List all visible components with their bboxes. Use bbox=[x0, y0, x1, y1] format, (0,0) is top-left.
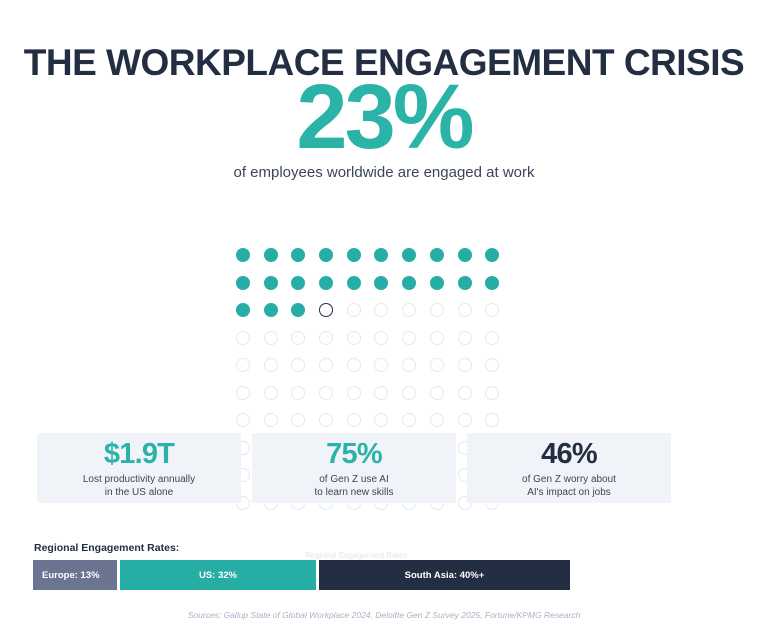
dot-empty bbox=[402, 331, 416, 345]
dot-empty bbox=[485, 331, 499, 345]
dot-highlighted bbox=[319, 303, 333, 317]
stat-label: of Gen Z worry about AI's impact on jobs bbox=[522, 473, 616, 499]
dot-empty bbox=[319, 413, 333, 427]
dot-empty bbox=[430, 386, 444, 400]
dot-empty bbox=[291, 358, 305, 372]
stat-card-genz-ai-use: 75% of Gen Z use AI to learn new skills bbox=[252, 433, 456, 503]
dot-empty bbox=[347, 303, 361, 317]
dot-empty bbox=[430, 303, 444, 317]
dot-empty bbox=[402, 358, 416, 372]
dot-empty bbox=[430, 331, 444, 345]
dot-filled bbox=[291, 303, 305, 317]
dot-empty bbox=[458, 413, 472, 427]
dot-filled bbox=[347, 276, 361, 290]
dot-filled bbox=[374, 248, 388, 262]
stat-value: 75% bbox=[326, 438, 382, 470]
dot-filled bbox=[458, 248, 472, 262]
dot-empty bbox=[291, 386, 305, 400]
dot-empty bbox=[374, 331, 388, 345]
sources-footnote: Sources: Gallup State of Global Workplac… bbox=[0, 609, 768, 621]
dot-filled bbox=[291, 248, 305, 262]
dot-filled bbox=[430, 248, 444, 262]
dot-empty bbox=[264, 386, 278, 400]
dot-filled bbox=[458, 276, 472, 290]
dot-filled bbox=[402, 276, 416, 290]
regional-segment-label: South Asia: 40%+ bbox=[405, 570, 485, 581]
dot-filled bbox=[319, 248, 333, 262]
dot-filled bbox=[236, 276, 250, 290]
dot-empty bbox=[319, 331, 333, 345]
regional-segment: South Asia: 40%+ bbox=[319, 560, 570, 590]
dot-empty bbox=[485, 413, 499, 427]
dot-empty bbox=[236, 386, 250, 400]
dot-empty bbox=[374, 358, 388, 372]
dot-filled bbox=[236, 303, 250, 317]
dot-filled bbox=[485, 276, 499, 290]
dot-empty bbox=[319, 358, 333, 372]
dot-empty bbox=[458, 331, 472, 345]
dot-empty bbox=[374, 303, 388, 317]
stat-value: 46% bbox=[541, 438, 597, 470]
dot-filled bbox=[485, 248, 499, 262]
hero-statistic-value: 23% bbox=[0, 68, 768, 166]
dot-empty bbox=[374, 386, 388, 400]
regional-segment-label: US: 32% bbox=[199, 570, 237, 581]
dot-empty bbox=[485, 386, 499, 400]
stat-card-lost-productivity: $1.9T Lost productivity annually in the … bbox=[37, 433, 241, 503]
regional-engagement-bar: Europe: 13%US: 32%South Asia: 40%+ bbox=[33, 560, 573, 590]
regional-engagement-heading: Regional Engagement Rates: bbox=[34, 541, 179, 555]
dot-empty bbox=[291, 413, 305, 427]
dot-empty bbox=[236, 358, 250, 372]
dot-filled bbox=[402, 248, 416, 262]
dot-empty bbox=[319, 386, 333, 400]
stat-value: $1.9T bbox=[104, 438, 174, 470]
dot-filled bbox=[236, 248, 250, 262]
infographic-canvas: THE WORKPLACE ENGAGEMENT CRISIS 23% of e… bbox=[0, 0, 768, 641]
dot-empty bbox=[264, 331, 278, 345]
dot-filled bbox=[264, 276, 278, 290]
stat-label: of Gen Z use AI to learn new skills bbox=[315, 473, 394, 499]
dot-empty bbox=[264, 358, 278, 372]
dot-empty bbox=[458, 303, 472, 317]
dot-filled bbox=[430, 276, 444, 290]
dot-filled bbox=[347, 248, 361, 262]
dot-filled bbox=[264, 248, 278, 262]
dot-empty bbox=[236, 331, 250, 345]
dot-empty bbox=[458, 386, 472, 400]
regional-segment-label: Europe: 13% bbox=[42, 570, 100, 581]
dot-empty bbox=[291, 331, 305, 345]
stat-card-genz-ai-worry: 46% of Gen Z worry about AI's impact on … bbox=[467, 433, 671, 503]
dot-empty bbox=[458, 358, 472, 372]
dot-empty bbox=[430, 413, 444, 427]
regional-segment: Europe: 13% bbox=[33, 560, 117, 590]
dot-filled bbox=[264, 303, 278, 317]
dot-filled bbox=[374, 276, 388, 290]
dot-empty bbox=[485, 358, 499, 372]
dot-empty bbox=[264, 413, 278, 427]
dot-empty bbox=[347, 358, 361, 372]
dot-empty bbox=[347, 413, 361, 427]
dot-empty bbox=[485, 303, 499, 317]
stat-label: Lost productivity annually in the US alo… bbox=[83, 473, 195, 499]
dot-empty bbox=[402, 413, 416, 427]
dot-empty bbox=[347, 331, 361, 345]
dot-empty bbox=[402, 303, 416, 317]
dot-empty bbox=[430, 358, 444, 372]
regional-segment: US: 32% bbox=[120, 560, 316, 590]
dot-filled bbox=[291, 276, 305, 290]
dot-empty bbox=[236, 413, 250, 427]
hero-statistic-caption: of employees worldwide are engaged at wo… bbox=[0, 163, 768, 183]
dot-empty bbox=[374, 413, 388, 427]
dot-empty bbox=[402, 386, 416, 400]
dot-empty bbox=[347, 386, 361, 400]
dot-filled bbox=[319, 276, 333, 290]
